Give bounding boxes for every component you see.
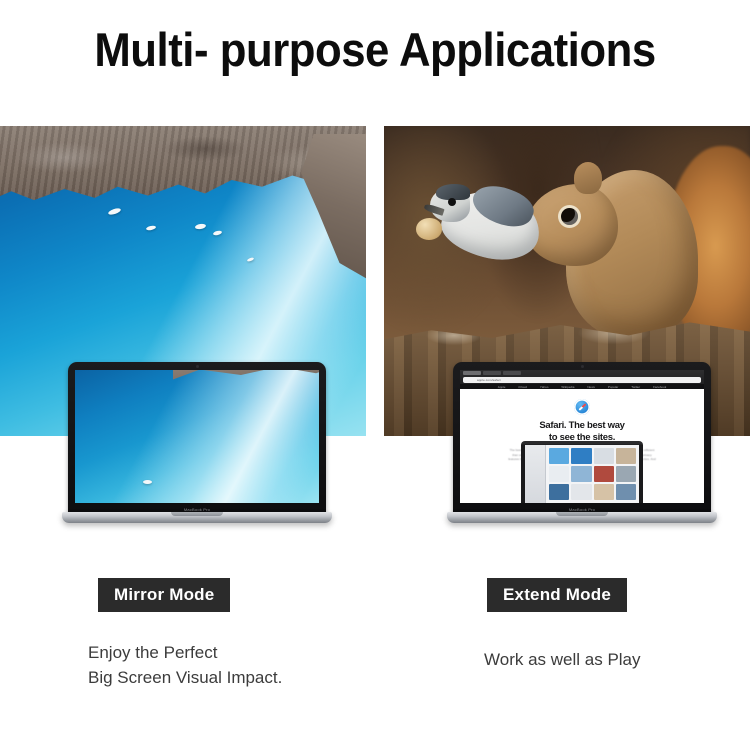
boat <box>143 480 152 484</box>
bird-seed <box>416 218 442 240</box>
tile <box>549 484 569 500</box>
boat <box>247 257 255 262</box>
caption-extend-mode: Work as well as Play <box>484 648 641 673</box>
tile <box>549 448 569 464</box>
favorite-news[interactable]: News <box>587 385 595 389</box>
safari-headline-line1: Safari. The best way <box>460 420 704 432</box>
caption-mirror-mode: Enjoy the Perfect Big Screen Visual Impa… <box>88 641 282 690</box>
safari-window: apple.com/safari Apple iCloud Yahoo Wiki… <box>460 370 704 503</box>
laptop-extend: apple.com/safari Apple iCloud Yahoo Wiki… <box>447 362 717 534</box>
webcam-icon <box>581 365 584 368</box>
safari-start-page: Safari. The best way to see the sites. T… <box>460 389 704 503</box>
favorite-facebook[interactable]: Facebook <box>653 385 666 389</box>
tile <box>616 448 636 464</box>
favorite-twitter[interactable]: Twitter <box>631 385 640 389</box>
tile <box>616 484 636 500</box>
tile <box>594 448 614 464</box>
screenshot-tile-grid <box>546 445 639 503</box>
badge-extend-mode: Extend Mode <box>487 578 627 612</box>
boat <box>213 230 223 236</box>
tab-active[interactable] <box>463 371 481 375</box>
bird-eye <box>448 198 456 206</box>
safari-screenshot-preview <box>521 441 643 503</box>
boat <box>108 207 122 216</box>
badge-mirror-mode: Mirror Mode <box>98 578 230 612</box>
boat <box>146 225 157 231</box>
tile <box>594 484 614 500</box>
screen-cliff <box>173 370 319 410</box>
screen-beach-image <box>75 370 319 503</box>
laptop-screen-extend: apple.com/safari Apple iCloud Yahoo Wiki… <box>460 370 704 503</box>
laptop-base <box>62 512 332 523</box>
squirrel-ear <box>574 162 602 194</box>
favorite-wikipedia[interactable]: Wikipedia <box>561 385 574 389</box>
safari-compass-icon <box>574 399 590 415</box>
laptop-base <box>447 512 717 523</box>
webcam-icon <box>196 365 199 368</box>
safari-tab-strip[interactable] <box>463 371 521 375</box>
page-title: Multi- purpose Applications <box>26 22 724 77</box>
laptop-notch <box>556 512 608 516</box>
tab-3[interactable] <box>503 371 521 375</box>
laptop-lid: MacBook Pro <box>68 362 326 514</box>
laptop-screen-mirror <box>75 370 319 503</box>
laptop-mirror: MacBook Pro <box>62 362 332 534</box>
screenshot-sidebar <box>525 445 546 503</box>
tab-2[interactable] <box>483 371 501 375</box>
tile <box>571 448 591 464</box>
tile <box>549 466 569 482</box>
tile <box>571 484 591 500</box>
boat <box>195 223 207 230</box>
squirrel-eye <box>561 208 578 225</box>
favorite-popular[interactable]: Popular <box>608 385 618 389</box>
laptop-notch <box>171 512 223 516</box>
laptop-lid: apple.com/safari Apple iCloud Yahoo Wiki… <box>453 362 711 514</box>
favorite-icloud[interactable]: iCloud <box>518 385 527 389</box>
tile <box>594 466 614 482</box>
address-bar[interactable]: apple.com/safari <box>463 377 701 383</box>
address-bar-text: apple.com/safari <box>477 378 501 382</box>
screenshot-inner <box>525 445 639 503</box>
tile <box>616 466 636 482</box>
favorite-apple[interactable]: Apple <box>498 385 506 389</box>
favorite-yahoo[interactable]: Yahoo <box>540 385 548 389</box>
tile <box>571 466 591 482</box>
safari-headline: Safari. The best way to see the sites. <box>460 420 704 443</box>
